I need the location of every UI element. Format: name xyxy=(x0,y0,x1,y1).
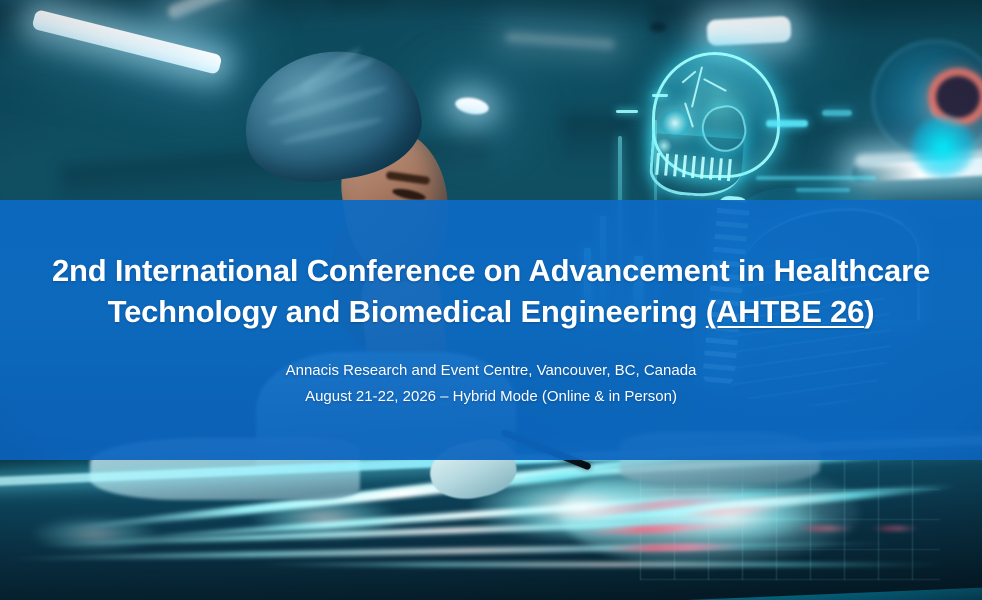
hud-tick xyxy=(616,110,638,113)
light-bloom xyxy=(250,496,400,540)
light-bloom xyxy=(640,488,820,544)
hud-segment xyxy=(822,110,852,116)
conference-abbreviation: (AHTBE 26 xyxy=(706,294,864,329)
eye-socket xyxy=(660,110,690,136)
hud-tick xyxy=(652,94,668,97)
venue-line: Annacis Research and Event Centre, Vanco… xyxy=(0,358,982,384)
nasal-cavity xyxy=(656,138,672,154)
title-line-1: 2nd International Conference on Advancem… xyxy=(22,250,960,291)
page-title: 2nd International Conference on Advancem… xyxy=(0,250,982,332)
conference-title-banner: 2nd International Conference on Advancem… xyxy=(0,200,982,460)
title-line-2: Technology and Biomedical Engineering (A… xyxy=(22,291,960,332)
banner-content: 2nd International Conference on Advancem… xyxy=(0,250,982,410)
hud-segment xyxy=(796,188,850,192)
light-streak xyxy=(250,562,950,567)
light-bloom xyxy=(30,516,160,552)
hud-segment xyxy=(756,176,876,180)
red-light-streak xyxy=(870,526,920,531)
title-line-2-suffix: ) xyxy=(864,294,874,329)
date-mode-line: August 21-22, 2026 – Hybrid Mode (Online… xyxy=(0,384,982,410)
conference-banner-screenshot: 2nd International Conference on Advancem… xyxy=(0,0,982,600)
title-line-2-prefix: Technology and Biomedical Engineering xyxy=(108,294,706,329)
hud-cyan-orb xyxy=(910,116,976,178)
banner-subtitle: Annacis Research and Event Centre, Vanco… xyxy=(0,358,982,410)
hud-segment xyxy=(766,120,808,127)
